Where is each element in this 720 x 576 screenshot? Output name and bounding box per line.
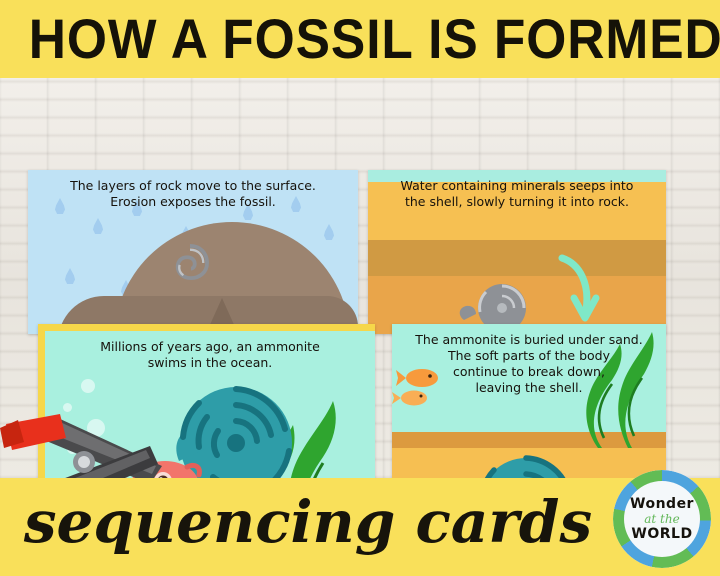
card-erosion[interactable]: The layers of rock move to the surface. … [28,170,358,334]
logo-line-1: Wonder [630,496,694,512]
card-caption: Millions of years ago, an ammonite swims… [45,331,375,377]
caption-line: the shell, slowly turning it into rock. [380,194,654,210]
ammonite-icon [470,452,574,478]
page-title: HOW A FOSSIL IS FORMED [29,8,691,70]
scissors-icon [0,408,200,478]
caption-line: The layers of rock move to the surface. [40,178,346,194]
caption-line: Erosion exposes the fossil. [40,194,346,210]
fossil-icon [171,244,209,280]
card-caption: The layers of rock move to the surface. … [28,170,358,216]
caption-line: The soft parts of the body [404,348,654,364]
card-minerals[interactable]: Water containing minerals seeps into the… [368,170,666,334]
photo-region: The layers of rock move to the surface. … [0,78,720,478]
card-buried[interactable]: The ammonite is buried under sand. The s… [392,324,666,478]
caption-line: leaving the shell. [404,380,654,396]
caption-line: Water containing minerals seeps into [380,178,654,194]
caption-line: continue to break down, [404,364,654,380]
card-caption: Water containing minerals seeps into the… [368,170,666,216]
caption-line: Millions of years ago, an ammonite [57,339,363,355]
sand-band-dark [368,240,666,276]
caption-line: The ammonite is buried under sand. [404,332,654,348]
card-caption: The ammonite is buried under sand. The s… [392,324,666,402]
arrow-down-icon [546,254,608,326]
brand-logo[interactable]: Wonder at the WORLD [613,470,711,568]
poster-page: HOW A FOSSIL IS FORMED The layers of roc [0,0,720,576]
logo-line-2: at the [644,512,679,526]
logo-line-3: WORLD [631,526,692,542]
caption-line: swims in the ocean. [57,355,363,371]
page-subtitle: sequencing cards [8,484,608,560]
logo-inner: Wonder at the WORLD [624,481,700,557]
